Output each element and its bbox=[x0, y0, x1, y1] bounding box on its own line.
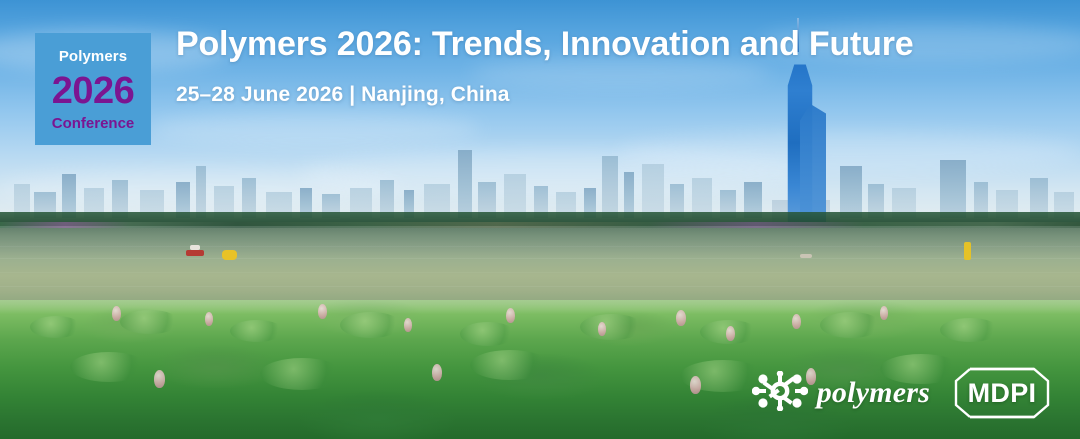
conference-banner: Polymers 2026 Conference Polymers 2026: … bbox=[0, 0, 1080, 439]
water-reflection bbox=[0, 228, 1080, 258]
buoy-yellow bbox=[964, 242, 971, 260]
banner-subtitle: 25–28 June 2026 | Nanjing, China bbox=[176, 83, 510, 106]
footer-logos: polymers MDPI bbox=[752, 365, 1054, 421]
boat-yellow bbox=[222, 250, 237, 260]
logo-year: 2026 bbox=[52, 72, 135, 110]
polymer-molecule-icon bbox=[752, 371, 808, 416]
conference-logo-box: Polymers 2026 Conference bbox=[35, 33, 151, 145]
polymers-journal-logo: polymers bbox=[752, 371, 930, 416]
boat-red bbox=[186, 250, 204, 256]
mdpi-wordmark: MDPI bbox=[950, 365, 1054, 421]
polymers-wordmark: polymers bbox=[817, 378, 930, 408]
mdpi-logo: MDPI bbox=[950, 365, 1054, 421]
zifeng-tower-annex bbox=[800, 104, 826, 222]
boat-red-canopy bbox=[190, 245, 200, 250]
logo-event-type: Conference bbox=[52, 116, 135, 131]
boat-small bbox=[800, 254, 812, 258]
banner-title: Polymers 2026: Trends, Innovation and Fu… bbox=[176, 27, 914, 63]
logo-journal-name: Polymers bbox=[59, 49, 127, 64]
